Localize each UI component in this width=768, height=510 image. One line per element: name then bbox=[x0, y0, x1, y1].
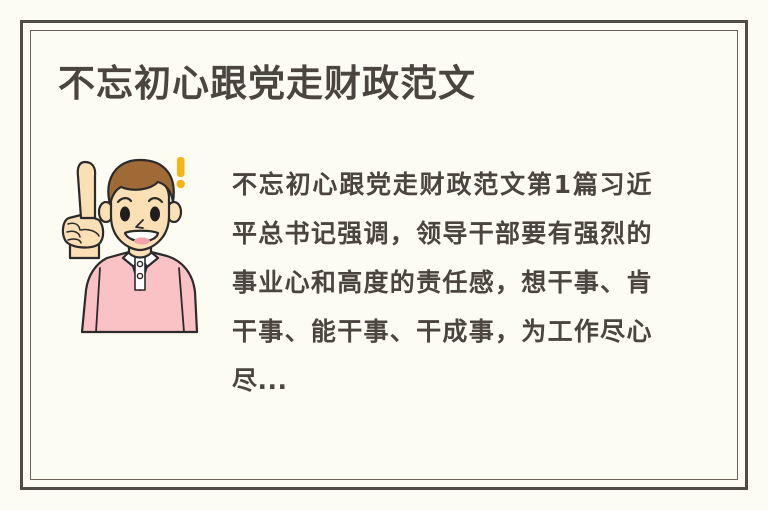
exclamation-icon bbox=[177, 157, 185, 188]
page-title: 不忘初心跟党走财政范文 bbox=[58, 61, 476, 107]
article-summary: 不忘初心跟党走财政范文第1篇习近平总书记强调，领导干部要有强烈的事业心和高度的责… bbox=[232, 160, 652, 405]
article-card: 不忘初心跟党走财政范文 bbox=[0, 0, 768, 510]
man-pointing-up-illustration bbox=[55, 140, 220, 335]
